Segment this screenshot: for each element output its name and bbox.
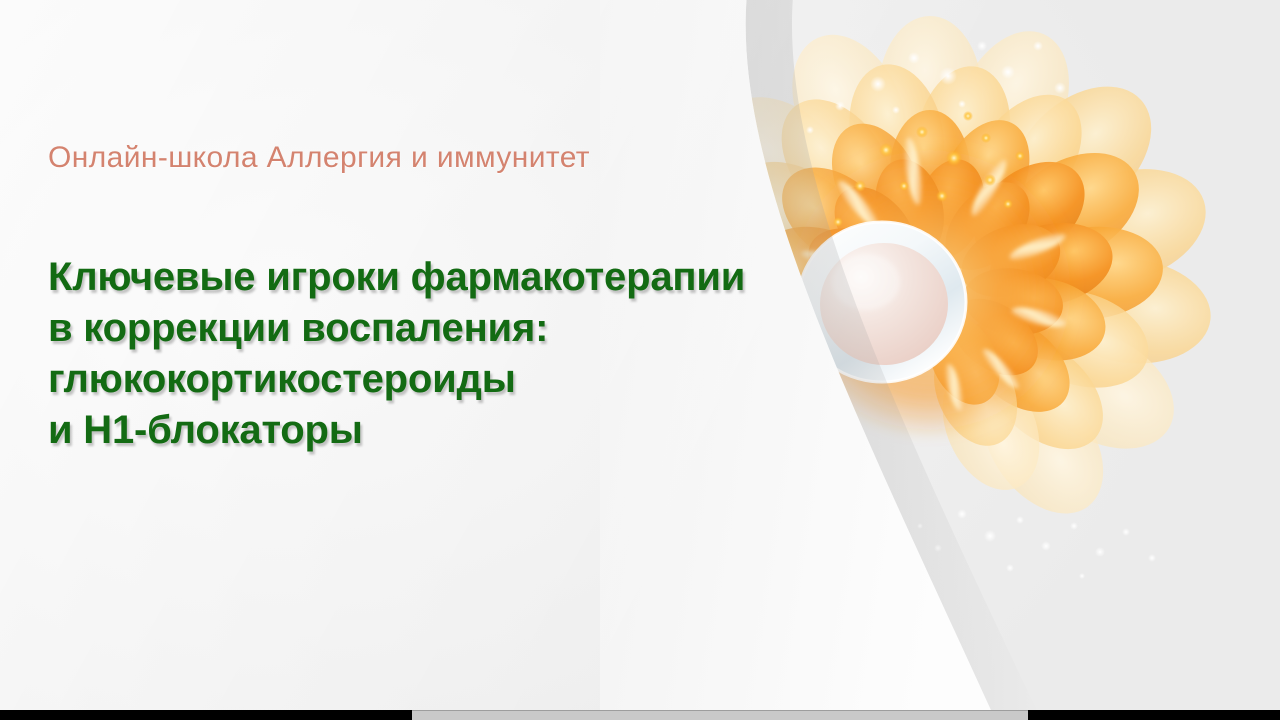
page-title: Ключевые игроки фармакотерапии в коррекц… xyxy=(48,252,848,456)
title-line-4: и H1-блокаторы xyxy=(48,405,848,456)
player-bar-left-frame xyxy=(0,710,412,720)
presentation-slide: Онлайн-школа Аллергия и иммунитет Ключев… xyxy=(0,0,1280,720)
slide-text-block: Онлайн-школа Аллергия и иммунитет Ключев… xyxy=(48,140,848,456)
title-line-1: Ключевые игроки фармакотерапии xyxy=(48,252,848,303)
brand-subtitle: Онлайн-школа Аллергия и иммунитет xyxy=(48,140,848,176)
title-line-3: глюкокортикостероиды xyxy=(48,354,848,405)
player-bar-right-frame xyxy=(1028,710,1280,720)
title-line-2: в коррекции воспаления: xyxy=(48,303,848,354)
player-progress-track[interactable] xyxy=(412,710,1028,720)
video-player-bar[interactable] xyxy=(0,710,1280,720)
